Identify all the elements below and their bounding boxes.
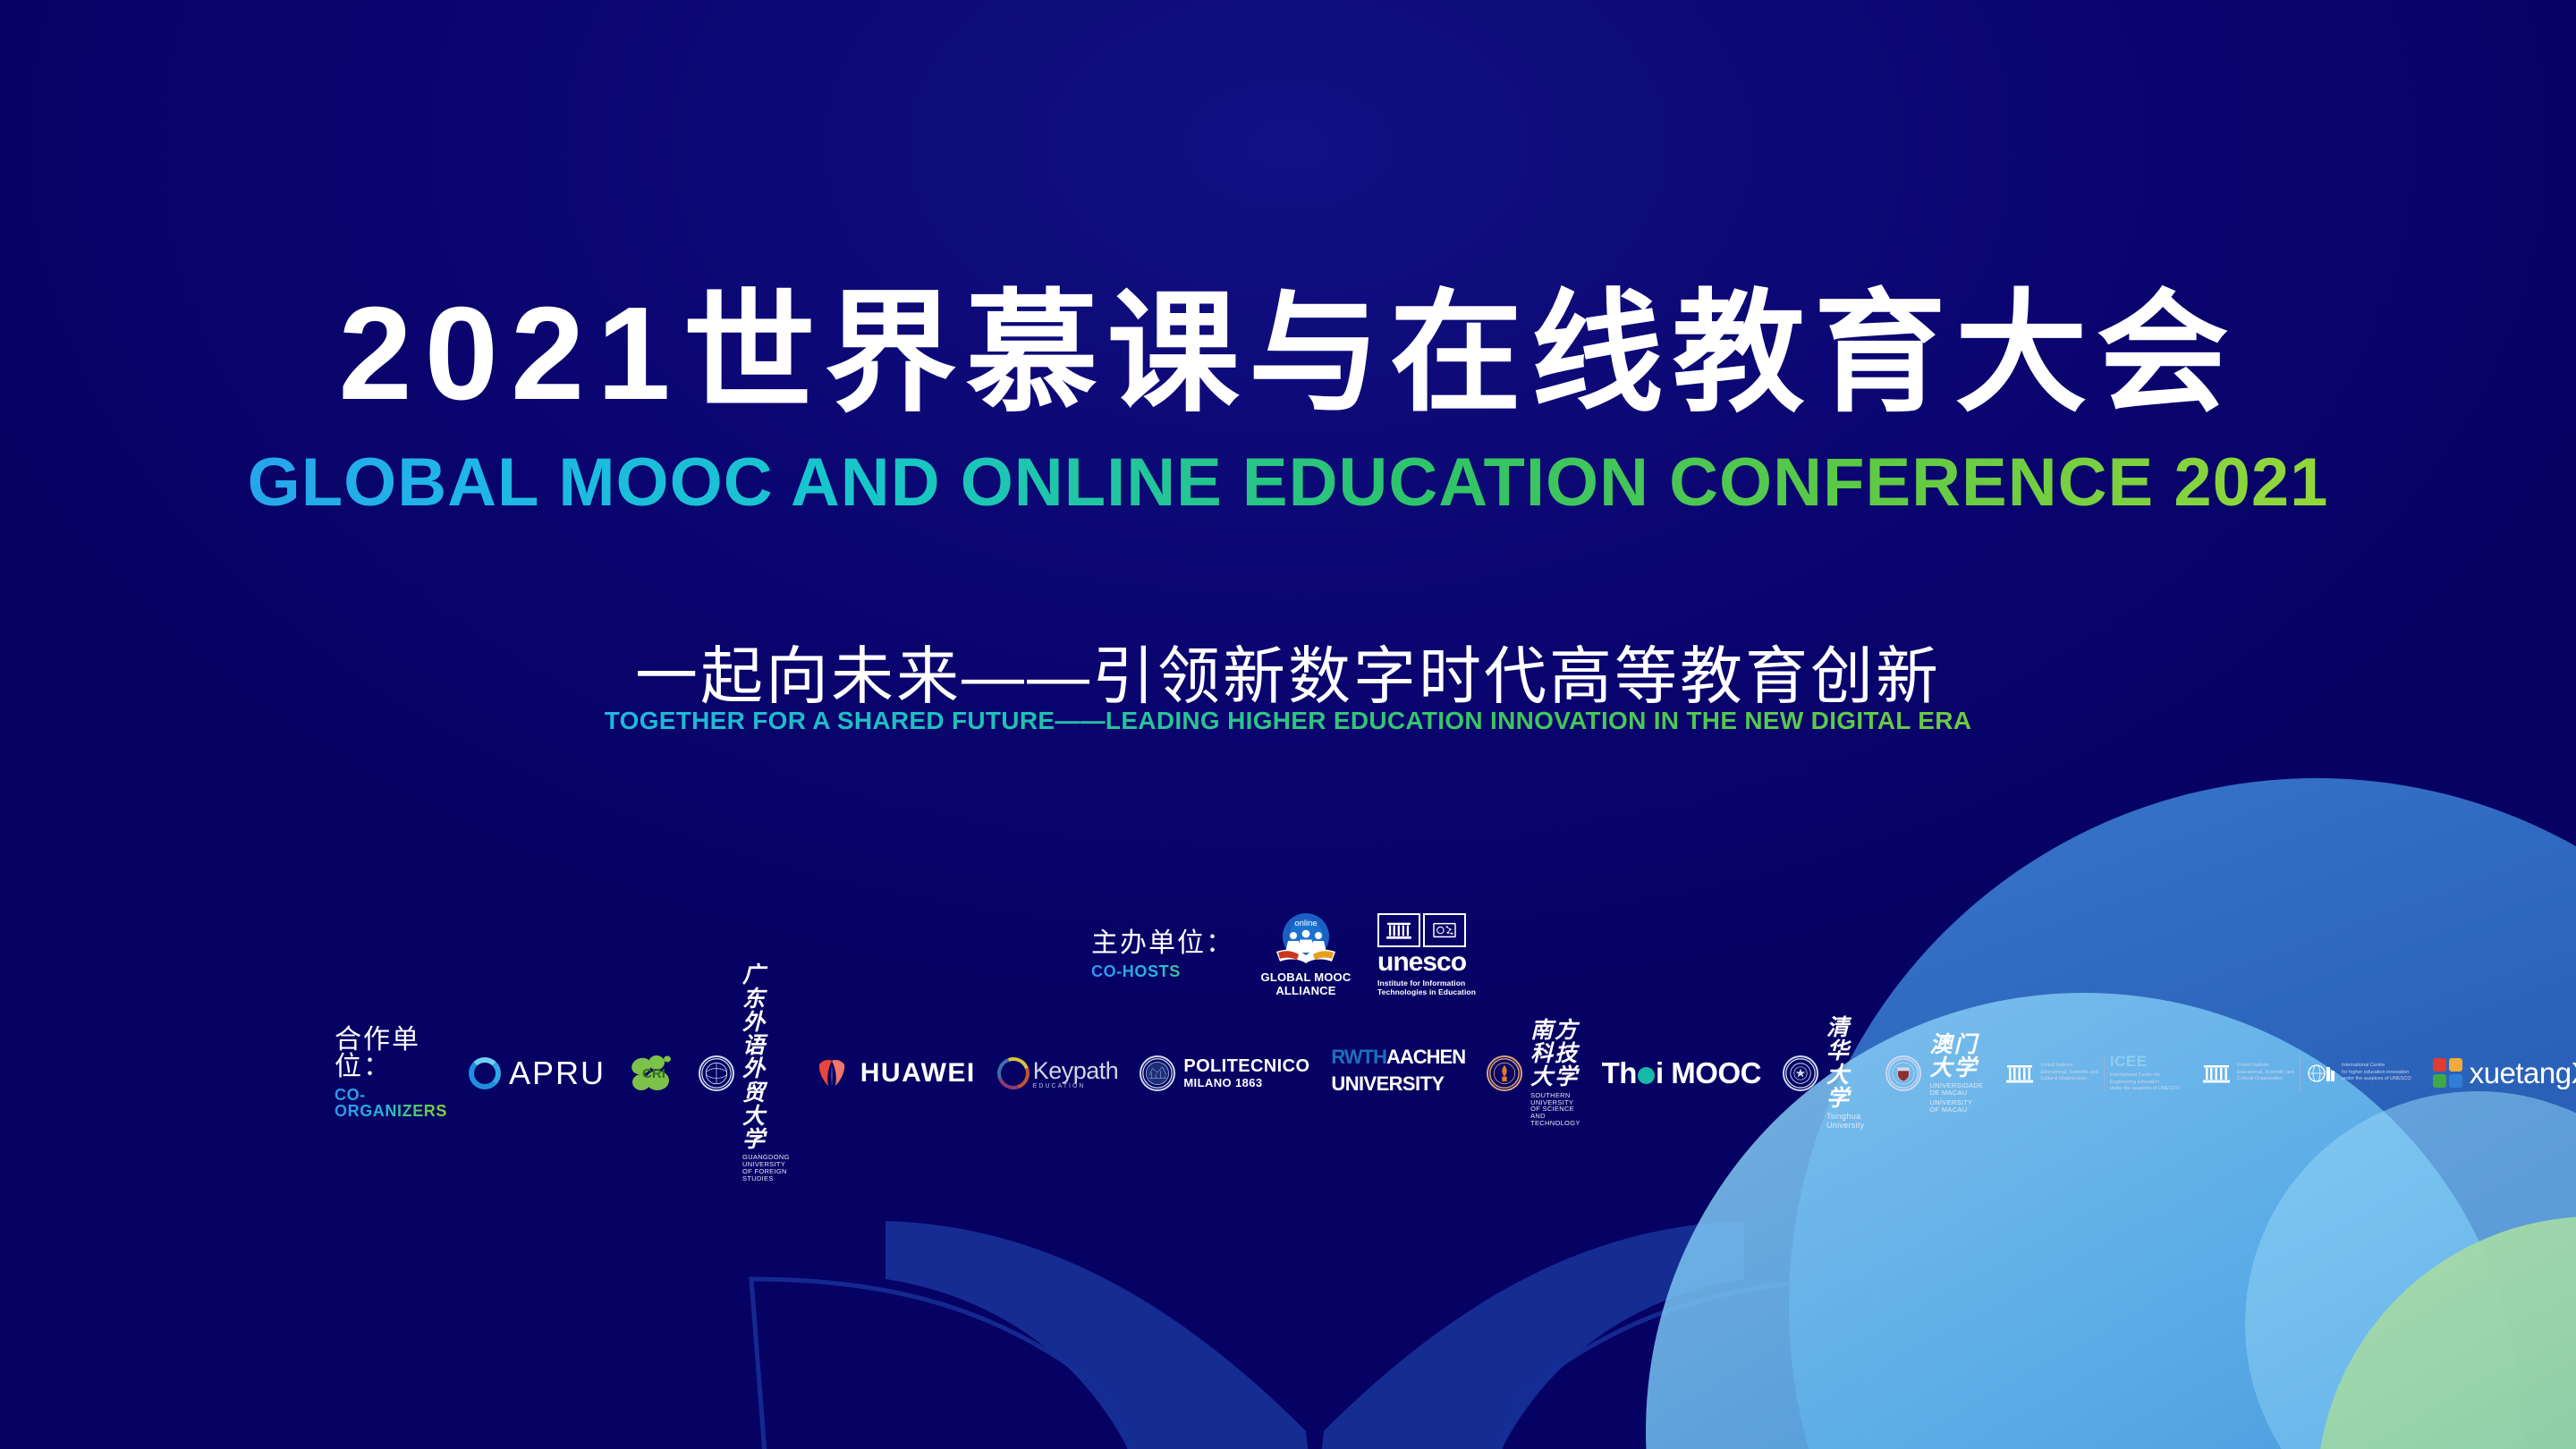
tagline-english: TOGETHER FOR A SHARED FUTURE——LEADING HI…: [0, 707, 2576, 735]
huawei-flower-icon: [811, 1059, 852, 1088]
keypath-name: Keypath EDUCATION: [1033, 1057, 1119, 1089]
co-hosts-row: 主办单位： CO-HOSTS online: [0, 912, 2576, 998]
logo-apru[interactable]: APRU: [469, 1047, 606, 1099]
thaimooc-wordmark: Thi MOOC: [1602, 1056, 1761, 1090]
xuetangx-wordmark: xuetangX: [2470, 1056, 2576, 1090]
unesco-iite-subtitle: Institute for Information Technologies i…: [1377, 979, 1476, 997]
keypath-ring-icon: [992, 1052, 1035, 1095]
icee-micro-l3: Cultural Organization: [2040, 1076, 2087, 1081]
ichei-micro-l3: Cultural Organization: [2237, 1076, 2284, 1081]
icee-divider: [2104, 1055, 2105, 1091]
logo-unesco-international-centre-higher-education[interactable]: United Nations Educational, Scientific a…: [2201, 1047, 2411, 1099]
ichei-globe-icon: [2306, 1062, 2336, 1085]
logo-cri[interactable]: CRI: [627, 1047, 677, 1099]
global-mooc-alliance-wordmark: GLOBAL MOOC ALLIANCE: [1261, 971, 1352, 998]
sustech-name-cn: 南方科技大学: [1530, 1019, 1580, 1089]
logo-unesco-iite[interactable]: unesco Institute for Information Technol…: [1377, 913, 1485, 997]
icee-micro-right: International Centre for Engineering Edu…: [2110, 1072, 2180, 1092]
ichei-micro-right: International Centre for higher educatio…: [2342, 1063, 2411, 1082]
xuetangx-squares-icon: [2433, 1058, 2462, 1088]
polimi-wordmark: POLITECNICO: [1183, 1057, 1309, 1076]
global-mooc-alliance-icon: online: [1269, 912, 1343, 968]
rwth-wordmark-aachen: AACHEN: [1386, 1046, 1465, 1068]
huawei-wordmark: HUAWEI: [860, 1058, 976, 1089]
tagline-chinese: 一起向未来——引领新数字时代高等教育创新: [0, 626, 2576, 716]
icee-micro-r2: Engineering Education: [2110, 1080, 2159, 1085]
polimi-name: POLITECNICO MILANO 1863: [1183, 1057, 1309, 1089]
macau-name: 澳门大学 UNIVERSIDADE DE MACAU UNIVERSITY OF…: [1929, 1033, 1983, 1114]
ichei-micro-l1: United Nations: [2237, 1063, 2269, 1068]
logo-huawei[interactable]: HUAWEI: [811, 1047, 976, 1099]
title-year: 2021: [338, 280, 682, 428]
gdufs-name-en: GUANGDONG UNIVERSITY OF FOREIGN STUDIES: [742, 1154, 790, 1182]
icee-micro-r3: under the auspices of UNESCO: [2110, 1086, 2180, 1091]
conference-banner: 2021世界慕课与在线教育大会 GLOBAL MOOC AND ONLINE E…: [0, 0, 2576, 1449]
logo-guangdong-university-of-foreign-studies[interactable]: 广东外语外贸大学 GUANGDONG UNIVERSITY OF FOREIGN…: [699, 1047, 790, 1099]
tsinghua-name: 清华大学 Tsinghua University: [1826, 1016, 1865, 1130]
unesco-wordmark: unesco: [1377, 950, 1466, 976]
logo-global-mooc-alliance[interactable]: online GLOBAL MOOC ALLIANCE: [1258, 912, 1354, 998]
icee-wordmark: ICEE: [2110, 1053, 2148, 1071]
macau-seal-icon: [1885, 1055, 1921, 1091]
ichei-unesco-temple-icon: [2201, 1062, 2232, 1085]
keypath-wordmark: Keypath: [1033, 1057, 1119, 1085]
logo-keypath[interactable]: Keypath EDUCATION: [997, 1047, 1119, 1099]
unesco-sub-line2: Technologies in Education: [1377, 987, 1476, 996]
co-hosts-label-cn: 主办单位：: [1091, 930, 1234, 957]
unesco-iite-tech-icon: [1423, 913, 1466, 947]
polimi-seal-icon: [1140, 1055, 1175, 1091]
icee-micro-r1: International Centre for: [2110, 1072, 2160, 1078]
co-organizers-label-en: CO-ORGANIZERS: [335, 1087, 447, 1119]
sustech-name: 南方科技大学 SOUTHERN UNIVERSITY OF SCIENCE AN…: [1530, 1019, 1580, 1127]
co-hosts-label-en: CO-HOSTS: [1091, 963, 1234, 979]
icee-micro-l1: United Nations: [2040, 1063, 2072, 1068]
logo-unesco-icee[interactable]: United Nations Educational, Scientific a…: [2004, 1047, 2179, 1099]
ichei-micro-r3: under the auspices of UNESCO: [2342, 1076, 2411, 1081]
icee-unesco-microtext: United Nations Educational, Scientific a…: [2040, 1063, 2098, 1082]
co-organizers-row: 合作单位： CO-ORGANIZERS APRU: [335, 1027, 2576, 1119]
rwth-line1: RWTHAACHEN: [1331, 1047, 1465, 1067]
logo-xuetangx[interactable]: xuetangX: [2433, 1047, 2576, 1099]
logo-university-of-macau[interactable]: 澳门大学 UNIVERSIDADE DE MACAU UNIVERSITY OF…: [1885, 1047, 1983, 1099]
gma-line2: ALLIANCE: [1275, 984, 1335, 997]
cri-leaf-icon: CRI: [627, 1051, 677, 1096]
unesco-emblem: [1377, 913, 1466, 947]
ichei-micro-r2: for higher education innovation: [2342, 1070, 2409, 1075]
unesco-sub-line1: Institute for Information: [1377, 979, 1465, 987]
logo-rwth-aachen-university[interactable]: RWTHAACHEN UNIVERSITY: [1331, 1047, 1465, 1099]
logo-tsinghua-university[interactable]: 清华大学 Tsinghua University: [1783, 1047, 1865, 1099]
apru-wordmark: APRU: [509, 1055, 606, 1092]
rwth-wordmark-rwth: RWTH: [1331, 1046, 1386, 1068]
thaimooc-dot-icon: [1638, 1067, 1655, 1084]
gdufs-seal-icon: [699, 1055, 734, 1091]
sustech-name-en: SOUTHERN UNIVERSITY OF SCIENCE AND TECHN…: [1530, 1092, 1580, 1127]
thaimooc-part2: i MOOC: [1656, 1056, 1761, 1089]
page-title: 2021世界慕课与在线教育大会: [0, 284, 2576, 423]
logo-southern-university-of-science-and-technology[interactable]: 南方科技大学 SOUTHERN UNIVERSITY OF SCIENCE AN…: [1487, 1047, 1580, 1099]
unesco-temple-icon: [1377, 913, 1420, 947]
macau-name-cn: 澳门大学: [1929, 1033, 1983, 1080]
ichei-micro-r1: International Centre: [2342, 1063, 2385, 1068]
gdufs-name-cn: 广东外语外贸大学: [742, 963, 790, 1151]
title-chinese: 世界慕课与在线教育大会: [683, 280, 2238, 428]
macau-name-pt: UNIVERSIDADE DE MACAU: [1929, 1082, 1983, 1097]
ichei-divider: [2300, 1055, 2301, 1091]
logo-politecnico-milano[interactable]: POLITECNICO MILANO 1863: [1140, 1047, 1309, 1099]
global-mooc-alliance-online-text: online: [1294, 919, 1317, 928]
co-organizers-label: 合作单位： CO-ORGANIZERS: [335, 1027, 447, 1119]
tsinghua-seal-icon: [1783, 1055, 1818, 1091]
tsinghua-name-cn: 清华大学: [1826, 1016, 1865, 1110]
tsinghua-name-en: Tsinghua University: [1826, 1113, 1865, 1130]
ichei-micro-left: United Nations Educational, Scientific a…: [2237, 1063, 2295, 1082]
polimi-subtitle: MILANO 1863: [1183, 1076, 1262, 1089]
co-organizers-label-cn: 合作单位：: [335, 1027, 447, 1080]
co-hosts-label: 主办单位： CO-HOSTS: [1091, 930, 1234, 979]
icee-right: ICEE International Centre for Engineerin…: [2110, 1053, 2180, 1092]
rwth-line2: UNIVERSITY: [1331, 1074, 1444, 1094]
cri-wordmark: CRI: [642, 1066, 665, 1081]
sustech-seal-icon: [1487, 1055, 1522, 1091]
icee-micro-l2: Educational, Scientific and: [2040, 1070, 2098, 1075]
apru-ring-icon: [469, 1057, 501, 1089]
keypath-subtitle: EDUCATION: [1033, 1083, 1086, 1089]
thaimooc-part1: Th: [1602, 1056, 1637, 1089]
gma-line1: GLOBAL MOOC: [1261, 970, 1352, 984]
gdufs-name: 广东外语外贸大学 GUANGDONG UNIVERSITY OF FOREIGN…: [742, 963, 790, 1182]
ichei-micro-l2: Educational, Scientific and: [2237, 1070, 2295, 1075]
macau-name-en: UNIVERSITY OF MACAU: [1929, 1099, 1983, 1114]
title-english: GLOBAL MOOC AND ONLINE EDUCATION CONFERE…: [0, 445, 2576, 521]
logo-thai-mooc[interactable]: Thi MOOC: [1602, 1047, 1761, 1099]
icee-unesco-temple-icon: [2004, 1062, 2035, 1085]
